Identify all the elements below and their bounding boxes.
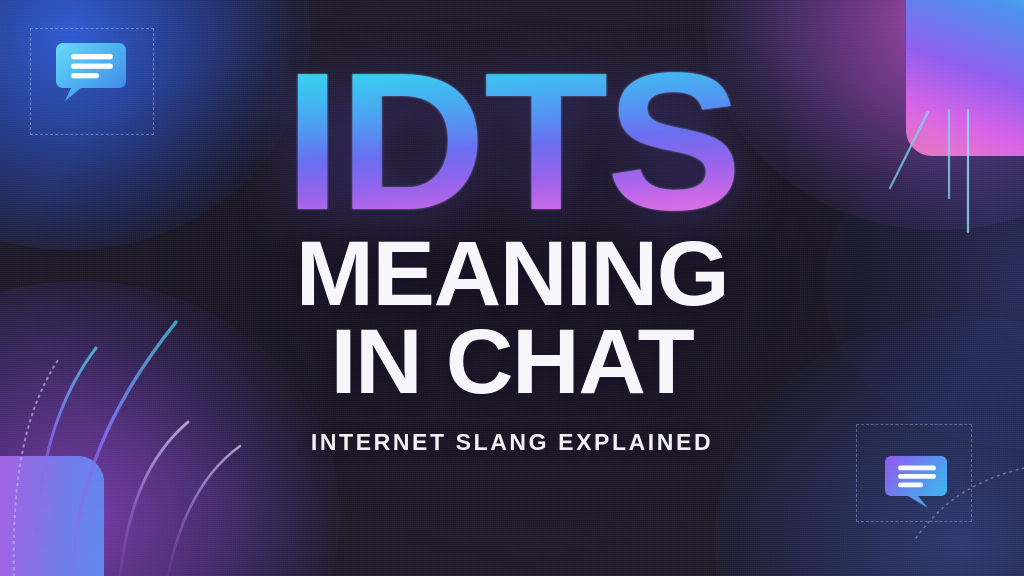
subtitle-line-2: IN CHAT [331, 320, 694, 406]
subtitle-line-1: MEANING [296, 232, 728, 318]
poster-canvas: IDTS MEANING IN CHAT INTERNET SLANG EXPL… [0, 0, 1024, 576]
text-stack: IDTS MEANING IN CHAT INTERNET SLANG EXPL… [0, 0, 1024, 576]
tagline: INTERNET SLANG EXPLAINED [311, 429, 713, 456]
headline-acronym: IDTS [284, 52, 740, 232]
